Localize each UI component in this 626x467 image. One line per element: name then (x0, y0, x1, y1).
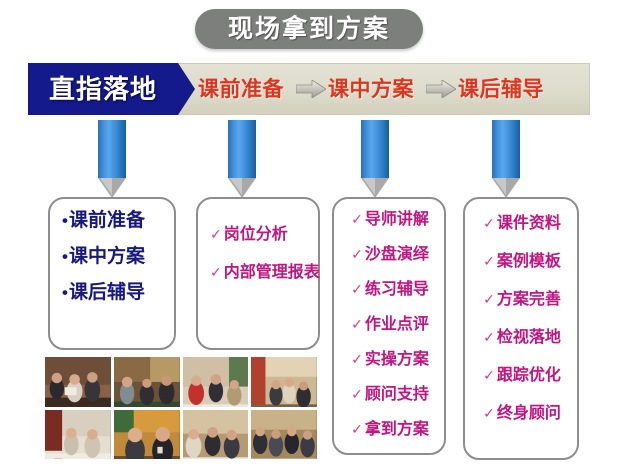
arrow-shaft (361, 120, 389, 178)
list-item-label: 实操方案 (365, 352, 429, 368)
check-icon: ✓ (483, 254, 495, 268)
down-arrow-1 (98, 120, 126, 198)
arrow-tip-highlight (494, 178, 506, 195)
right-arrow-icon-1 (296, 80, 326, 98)
list-item-label: 案例模板 (497, 254, 561, 270)
list-item: ✓课件资料 (483, 216, 561, 232)
check-icon: ✓ (351, 422, 363, 436)
bullet-icon: • (62, 211, 68, 230)
list-item: ✓案例模板 (483, 254, 561, 270)
bullet-icon: • (62, 283, 68, 302)
slide-title-pill: 现场拿到方案 (195, 9, 423, 49)
list-item-label: 方案完善 (497, 292, 561, 308)
list-item-label: 内部管理报表 (224, 265, 320, 281)
arrow-tip-highlight (230, 178, 242, 195)
check-icon: ✓ (210, 265, 222, 279)
list-item: ✓作业点评 (351, 317, 429, 333)
check-icon: ✓ (483, 368, 495, 382)
in-class-box: ✓导师讲解 ✓沙盘演绎 ✓练习辅导 ✓作业点评 ✓实操方案 ✓顾问支持 ✓拿到方… (332, 197, 446, 455)
classroom-photo-6 (114, 410, 180, 460)
list-item: ✓沙盘演绎 (351, 247, 429, 263)
check-icon: ✓ (483, 292, 495, 306)
list-item-label: 拿到方案 (365, 422, 429, 438)
list-item: ✓拿到方案 (351, 422, 429, 438)
in-class-box-list: ✓导师讲解 ✓沙盘演绎 ✓练习辅导 ✓作业点评 ✓实操方案 ✓顾问支持 ✓拿到方… (334, 199, 444, 446)
header-stage-2: 课中方案 (328, 63, 414, 115)
classroom-photo-2 (114, 357, 180, 407)
list-item: ✓岗位分析 (210, 227, 308, 243)
header-main-label: 直指落地 (49, 76, 157, 102)
overview-box-list: •课前准备 •课中方案 •课后辅导 (50, 199, 174, 327)
list-item-label: 课后辅导 (69, 282, 145, 303)
overview-box: •课前准备 •课中方案 •课后辅导 (48, 197, 176, 350)
training-photo-grid (45, 357, 317, 459)
slide-canvas: 现场拿到方案 直指落地 课前准备 课中方案 课后辅导 (0, 0, 626, 467)
list-item: ✓检视落地 (483, 330, 561, 346)
list-item-label: 沙盘演绎 (365, 247, 429, 263)
down-arrow-4 (492, 120, 520, 198)
classroom-photo-1 (45, 357, 111, 407)
down-arrow-2 (228, 120, 256, 198)
header-stage-3: 课后辅导 (458, 63, 544, 115)
classroom-photo-8 (251, 410, 317, 460)
right-arrow-icon-2 (426, 80, 456, 98)
list-item-label: 终身顾问 (497, 406, 561, 422)
list-item: ✓跟踪优化 (483, 368, 561, 384)
classroom-photo-3 (183, 357, 249, 407)
arrow-tip-highlight (100, 178, 112, 195)
list-item-label: 岗位分析 (224, 227, 288, 243)
list-item-label: 检视落地 (497, 330, 561, 346)
list-item: ✓内部管理报表 (210, 265, 308, 281)
check-icon: ✓ (351, 212, 363, 226)
after-class-box: ✓课件资料 ✓案例模板 ✓方案完善 ✓检视落地 ✓跟踪优化 ✓终身顾问 (463, 197, 579, 460)
header-chevron-icon (178, 63, 195, 115)
list-item-label: 顾问支持 (365, 387, 429, 403)
classroom-photo-7 (183, 410, 249, 460)
list-item-label: 跟踪优化 (497, 368, 561, 384)
list-item-label: 练习辅导 (365, 282, 429, 298)
check-icon: ✓ (483, 216, 495, 230)
list-item-label: 作业点评 (365, 317, 429, 333)
pre-class-box: ✓岗位分析 ✓内部管理报表 (196, 197, 320, 350)
check-icon: ✓ (210, 227, 222, 241)
header-stage-1: 课前准备 (198, 63, 284, 115)
check-icon: ✓ (351, 387, 363, 401)
list-item-label: 导师讲解 (365, 212, 429, 228)
page-title: 现场拿到方案 (228, 17, 390, 42)
arrow-shaft (492, 120, 520, 178)
list-item: ✓方案完善 (483, 292, 561, 308)
list-item: ✓顾问支持 (351, 387, 429, 403)
list-item: •课后辅导 (62, 283, 164, 302)
list-item-label: 课中方案 (69, 246, 145, 267)
list-item: •课中方案 (62, 247, 164, 266)
bullet-icon: • (62, 247, 68, 266)
check-icon: ✓ (483, 330, 495, 344)
list-item: ✓导师讲解 (351, 212, 429, 228)
list-item: ✓终身顾问 (483, 406, 561, 422)
list-item-label: 课前准备 (69, 210, 145, 231)
arrow-tip-highlight (363, 178, 375, 195)
check-icon: ✓ (351, 282, 363, 296)
header-main-label-box: 直指落地 (28, 63, 178, 115)
list-item: ✓实操方案 (351, 352, 429, 368)
classroom-photo-4 (251, 357, 317, 407)
list-item: •课前准备 (62, 211, 164, 230)
check-icon: ✓ (351, 352, 363, 366)
check-icon: ✓ (483, 406, 495, 420)
after-class-box-list: ✓课件资料 ✓案例模板 ✓方案完善 ✓检视落地 ✓跟踪优化 ✓终身顾问 (465, 199, 577, 430)
check-icon: ✓ (351, 247, 363, 261)
down-arrow-3 (361, 120, 389, 198)
list-item-label: 课件资料 (497, 216, 561, 232)
pre-class-box-list: ✓岗位分析 ✓内部管理报表 (198, 199, 318, 289)
arrow-shaft (98, 120, 126, 178)
classroom-photo-5 (45, 410, 111, 460)
arrow-shaft (228, 120, 256, 178)
check-icon: ✓ (351, 317, 363, 331)
list-item: ✓练习辅导 (351, 282, 429, 298)
